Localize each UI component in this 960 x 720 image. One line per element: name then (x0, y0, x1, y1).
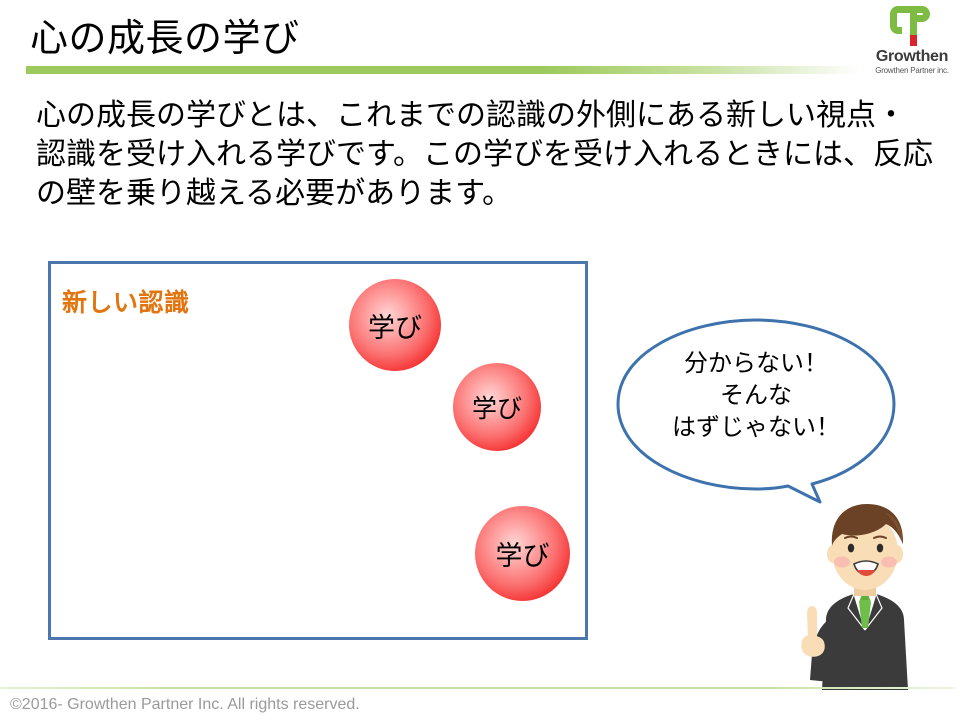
speech-line-3: はずじゃない！ (632, 412, 880, 444)
speech-bubble-text: 分からない！ そんな はずじゃない！ (632, 348, 880, 444)
body-paragraph: 心の成長の学びとは、これまでの認識の外側にある新しい視点・認識を受け入れる学びで… (36, 96, 934, 213)
growthen-gp-monogram-icon (888, 4, 936, 48)
speech-bubble: 分からない！ そんな はずじゃない！ (612, 316, 900, 516)
learning-circle: 学び (475, 506, 570, 601)
logo-wordmark: Growthen (866, 48, 958, 66)
slide-canvas: 心の成長の学び Growthen Growthen Partner inc. 心… (0, 0, 960, 720)
new-awareness-label: 新しい認識 (62, 283, 190, 319)
speech-line-2: そんな (632, 380, 880, 412)
speech-line-1: 分からない！ (632, 348, 880, 380)
learning-circle: 学び (453, 363, 541, 451)
brand-logo: Growthen Growthen Partner inc. (866, 4, 958, 80)
page-title: 心の成長の学び (30, 16, 300, 62)
title-underline-rule (26, 66, 862, 74)
businessman-pointing-up-illustration (772, 494, 956, 690)
logo-subtext: Growthen Partner inc. (866, 66, 958, 75)
footer-divider (0, 687, 956, 689)
footer-copyright: ©2016- Growthen Partner Inc. All rights … (10, 696, 360, 714)
learning-circle: 学び (349, 279, 441, 371)
